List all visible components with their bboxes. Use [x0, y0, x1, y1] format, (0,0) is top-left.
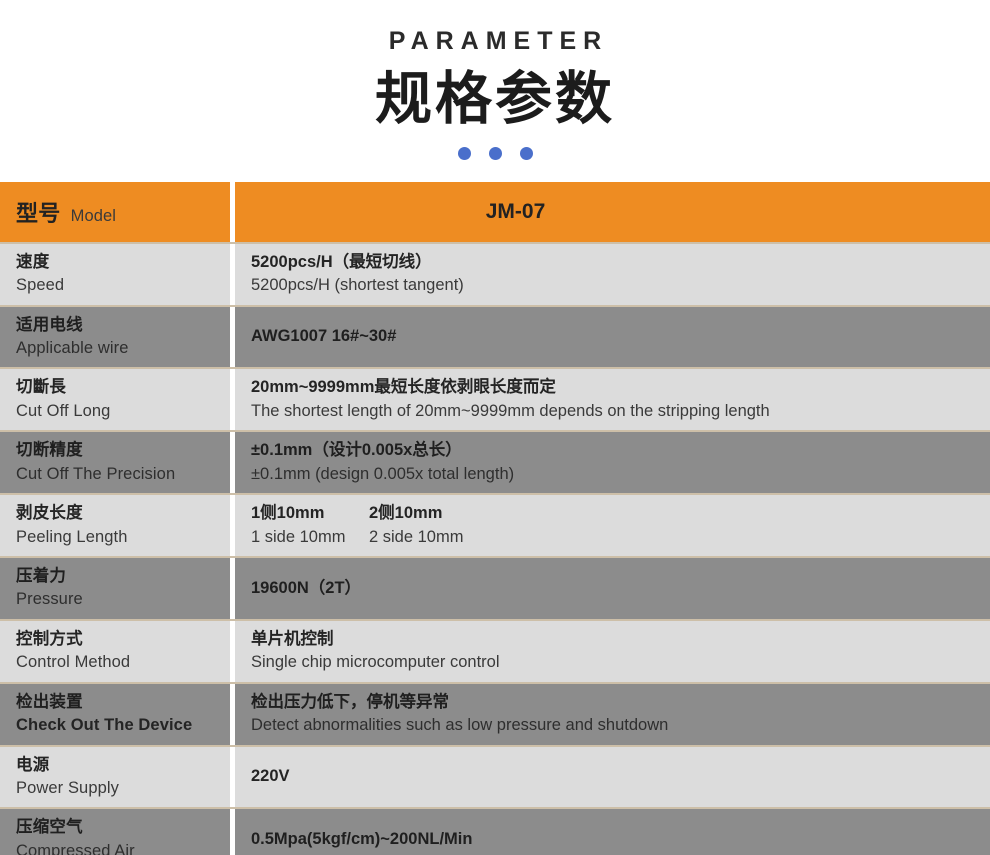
row-value-zh: 19600N（2T）	[251, 577, 990, 600]
row-value-cell: 19600N（2T）	[235, 558, 990, 619]
row-value-zh: ±0.1mm（设计0.005x总长）	[251, 439, 990, 462]
row-label-en: Peeling Length	[16, 526, 230, 549]
row-label-cell: 切断精度 Cut Off The Precision	[0, 432, 230, 493]
row-label-zh: 剥皮长度	[16, 502, 230, 525]
row-value-zh: AWG1007 16#~30#	[251, 325, 990, 348]
row-label-cell: 切斷長 Cut Off Long	[0, 369, 230, 430]
row-value-zh: 0.5Mpa(5kgf/cm)~200NL/Min	[251, 828, 990, 851]
row-label-cell: 控制方式 Control Method	[0, 621, 230, 682]
page-eyebrow: PARAMETER	[0, 28, 990, 56]
decorative-dots	[0, 147, 990, 160]
row-value-en: ±0.1mm (design 0.005x total length)	[251, 463, 990, 486]
row-label-en: Cut Off Long	[16, 400, 230, 423]
row-value-zh: 220V	[251, 765, 990, 788]
model-header-en: Model	[71, 207, 116, 225]
row-label-en: Control Method	[16, 651, 230, 674]
row-label-en: Pressure	[16, 588, 230, 611]
row-value-cell: AWG1007 16#~30#	[235, 307, 990, 368]
row-value-cell: 检出压力低下，停机等异常 Detect abnormalities such a…	[235, 684, 990, 745]
row-value-en: 1 side 10mm 2 side 10mm	[251, 526, 990, 549]
row-value-cell: ±0.1mm（设计0.005x总长） ±0.1mm (design 0.005x…	[235, 432, 990, 493]
row-label-en: Check Out The Device	[16, 714, 230, 737]
table-header-row: 型号Model JM-07	[0, 182, 990, 242]
model-name: JM-07	[251, 200, 990, 224]
row-value-cell: 220V	[235, 747, 990, 808]
row-value-zh: 1侧10mm 2侧10mm	[251, 502, 990, 525]
dot-icon	[520, 147, 533, 160]
row-label-en: Compressed Air	[16, 840, 230, 855]
table-row: 切斷長 Cut Off Long 20mm~9999mm最短长度依剥眼长度而定 …	[0, 369, 990, 430]
table-header-value-cell: JM-07	[235, 182, 990, 242]
peeling-side2-en: 2 side 10mm	[369, 526, 463, 549]
row-label-en: Cut Off The Precision	[16, 463, 230, 486]
table-row: 控制方式 Control Method 单片机控制 Single chip mi…	[0, 621, 990, 682]
row-value-en: The shortest length of 20mm~9999mm depen…	[251, 400, 990, 423]
row-label-zh: 压着力	[16, 565, 230, 588]
parameter-spec-page: PARAMETER 规格参数 型号Model JM-07 速度	[0, 0, 990, 855]
model-header-text: 型号Model	[16, 196, 230, 228]
row-label-en: Power Supply	[16, 777, 230, 800]
table-row: 速度 Speed 5200pcs/H（最短切线） 5200pcs/H (shor…	[0, 244, 990, 305]
row-label-cell: 剥皮长度 Peeling Length	[0, 495, 230, 556]
row-label-en: Applicable wire	[16, 337, 230, 360]
row-label-cell: 压缩空气 Compressed Air	[0, 809, 230, 855]
specification-table: 型号Model JM-07 速度 Speed 5200pcs/H（最短切线） 5…	[0, 182, 990, 855]
row-label-zh: 电源	[16, 754, 230, 777]
row-value-cell: 5200pcs/H（最短切线） 5200pcs/H (shortest tang…	[235, 244, 990, 305]
row-value-zh: 5200pcs/H（最短切线）	[251, 251, 990, 274]
row-label-zh: 速度	[16, 251, 230, 274]
row-label-cell: 压着力 Pressure	[0, 558, 230, 619]
peeling-side1-zh: 1侧10mm	[251, 502, 369, 525]
row-value-cell: 1侧10mm 2侧10mm 1 side 10mm 2 side 10mm	[235, 495, 990, 556]
table-row: 适用电线 Applicable wire AWG1007 16#~30#	[0, 307, 990, 368]
table-row: 压缩空气 Compressed Air 0.5Mpa(5kgf/cm)~200N…	[0, 809, 990, 855]
model-header-zh: 型号	[16, 201, 61, 226]
table-row: 电源 Power Supply 220V	[0, 747, 990, 808]
page-header: PARAMETER 规格参数	[0, 0, 990, 160]
row-value-zh: 单片机控制	[251, 628, 990, 651]
table-row: 剥皮长度 Peeling Length 1侧10mm 2侧10mm 1 side…	[0, 495, 990, 556]
row-value-cell: 20mm~9999mm最短长度依剥眼长度而定 The shortest leng…	[235, 369, 990, 430]
table-row: 切断精度 Cut Off The Precision ±0.1mm（设计0.00…	[0, 432, 990, 493]
row-label-zh: 压缩空气	[16, 816, 230, 839]
table-row: 检出装置 Check Out The Device 检出压力低下，停机等异常 D…	[0, 684, 990, 745]
table-row: 压着力 Pressure 19600N（2T）	[0, 558, 990, 619]
row-label-en: Speed	[16, 274, 230, 297]
row-label-zh: 控制方式	[16, 628, 230, 651]
row-label-zh: 切断精度	[16, 439, 230, 462]
row-value-cell: 0.5Mpa(5kgf/cm)~200NL/Min	[235, 809, 990, 855]
row-label-cell: 速度 Speed	[0, 244, 230, 305]
row-label-zh: 适用电线	[16, 314, 230, 337]
row-value-en: Detect abnormalities such as low pressur…	[251, 714, 990, 737]
row-label-cell: 电源 Power Supply	[0, 747, 230, 808]
table-header-label-cell: 型号Model	[0, 182, 230, 242]
row-value-cell: 单片机控制 Single chip microcomputer control	[235, 621, 990, 682]
row-value-en: Single chip microcomputer control	[251, 651, 990, 674]
row-label-cell: 检出装置 Check Out The Device	[0, 684, 230, 745]
row-value-zh: 检出压力低下，停机等异常	[251, 691, 990, 714]
row-label-cell: 适用电线 Applicable wire	[0, 307, 230, 368]
peeling-side2-zh: 2侧10mm	[369, 502, 442, 525]
row-value-zh: 20mm~9999mm最短长度依剥眼长度而定	[251, 376, 990, 399]
dot-icon	[458, 147, 471, 160]
row-label-zh: 切斷長	[16, 376, 230, 399]
peeling-side1-en: 1 side 10mm	[251, 526, 369, 549]
row-label-zh: 检出装置	[16, 691, 230, 714]
dot-icon	[489, 147, 502, 160]
row-value-en: 5200pcs/H (shortest tangent)	[251, 274, 990, 297]
page-title: 规格参数	[0, 66, 990, 133]
